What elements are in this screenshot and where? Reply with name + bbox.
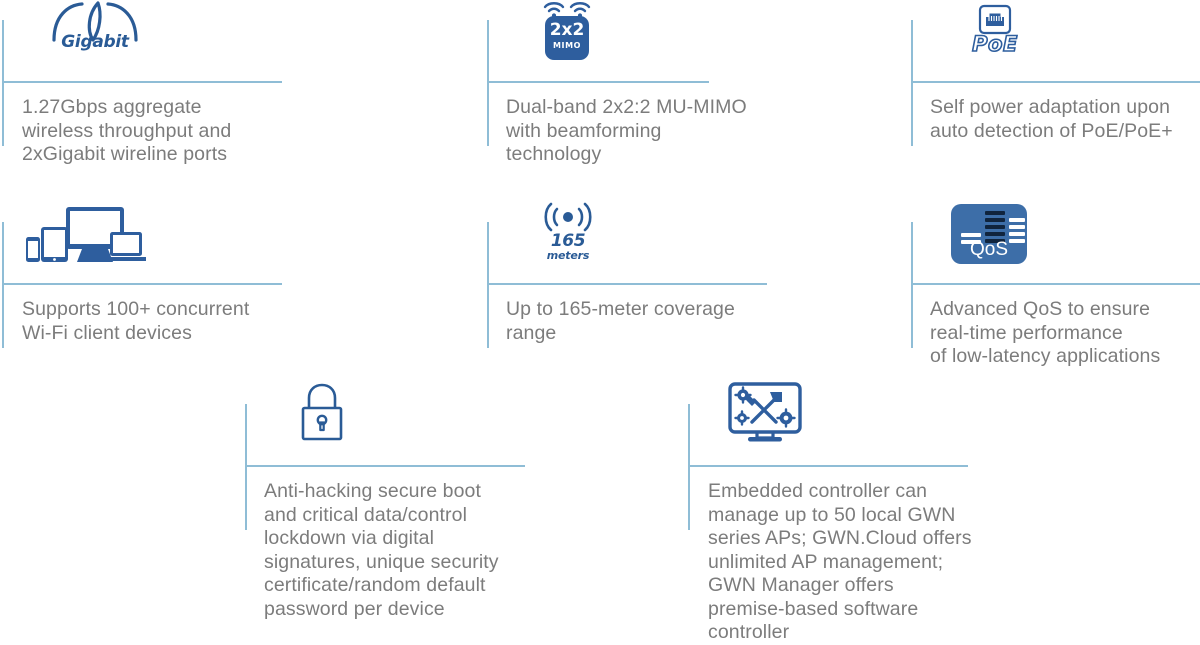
poe-icon: PoE (955, 4, 1035, 66)
cell-horizontal-rule (487, 81, 709, 83)
feature-description: Embedded controller can manage up to 50 … (708, 480, 1008, 645)
cell-vertical-rule (2, 20, 4, 146)
cell-vertical-rule (911, 222, 913, 348)
qos-equalizer-icon: QoS (951, 204, 1029, 266)
feature-description: Up to 165-meter coverage range (506, 298, 806, 345)
signal-range-icon: 165 meters (528, 200, 608, 270)
monitor-tools-icon (724, 382, 806, 449)
cell-horizontal-rule (2, 81, 282, 83)
feature-description: Advanced QoS to ensure real-time perform… (930, 298, 1200, 369)
cell-horizontal-rule (245, 465, 525, 467)
feature-description: Dual-band 2x2:2 MU-MIMO with beamforming… (506, 96, 806, 167)
feature-description: Self power adaptation upon auto detectio… (930, 96, 1200, 143)
range-icon-label-secondary: meters (528, 249, 608, 262)
cell-vertical-rule (911, 20, 913, 146)
feature-description: 1.27Gbps aggregate wireless throughput a… (22, 96, 292, 167)
qos-icon-label: QoS (951, 239, 1027, 261)
range-icon-label-primary: 165 (528, 231, 608, 251)
cell-horizontal-rule (911, 81, 1200, 83)
multi-device-icon (24, 204, 146, 269)
cell-horizontal-rule (487, 283, 767, 285)
cell-vertical-rule (2, 222, 4, 348)
cell-horizontal-rule (911, 283, 1200, 285)
feature-grid: Gigabit 1.27Gbps aggregate wireless thro… (0, 0, 1200, 638)
cell-vertical-rule (487, 20, 489, 146)
cell-horizontal-rule (688, 465, 968, 467)
2x2-mimo-icon: 2x2 MIMO (522, 0, 612, 68)
cell-vertical-rule (245, 404, 247, 530)
gigabit-icon-label: Gigabit (40, 32, 150, 52)
feature-description: Anti-hacking secure boot and critical da… (264, 480, 564, 621)
gigabit-icon: Gigabit (40, 2, 150, 72)
cell-vertical-rule (688, 404, 690, 530)
cell-horizontal-rule (2, 283, 282, 285)
cell-vertical-rule (487, 222, 489, 348)
poe-icon-label: PoE (955, 32, 1035, 56)
mimo-icon-label-primary: 2x2 (545, 20, 589, 40)
mimo-icon-label-secondary: MIMO (545, 41, 589, 50)
feature-description: Supports 100+ concurrent Wi-Fi client de… (22, 298, 322, 345)
padlock-icon (294, 382, 350, 447)
